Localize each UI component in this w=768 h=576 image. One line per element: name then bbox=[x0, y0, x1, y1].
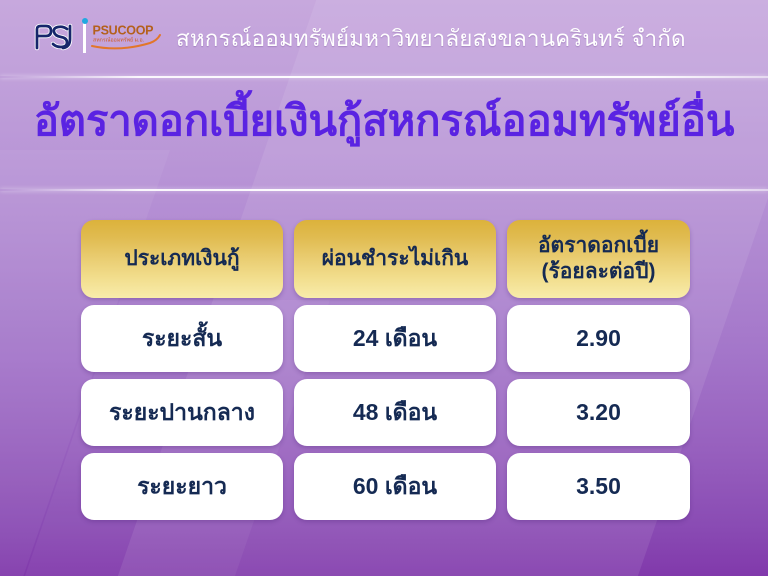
cell-loan-type: ระยะยาว bbox=[81, 453, 283, 520]
header-bar: PSUCOOP สหกรณ์ออมทรัพย์ ม.อ. สหกรณ์ออมทร… bbox=[0, 0, 768, 76]
divider-bottom bbox=[0, 187, 768, 193]
cell-rate: 2.90 bbox=[507, 305, 690, 372]
column-header-loan-type: ประเภทเงินกู้ bbox=[81, 220, 283, 298]
column-header-interest-rate-line2: (ร้อยละต่อปี) bbox=[542, 259, 656, 285]
cell-term: 24 เดือน bbox=[294, 305, 496, 372]
column-header-interest-rate-line1: อัตราดอกเบี้ย bbox=[538, 233, 659, 259]
table-row: ระยะสั้น 24 เดือน 2.90 bbox=[81, 305, 690, 372]
organization-name: สหกรณ์ออมทรัพย์มหาวิทยาลัยสงขลานครินทร์ … bbox=[176, 20, 686, 56]
cell-rate: 3.50 bbox=[507, 453, 690, 520]
cell-term: 48 เดือน bbox=[294, 379, 496, 446]
table-header-row: ประเภทเงินกู้ ผ่อนชำระไม่เกิน อัตราดอกเบ… bbox=[81, 220, 690, 298]
svg-text:PSUCOOP: PSUCOOP bbox=[93, 24, 154, 38]
slide-canvas: PSUCOOP สหกรณ์ออมทรัพย์ ม.อ. สหกรณ์ออมทร… bbox=[0, 0, 768, 576]
cell-loan-type: ระยะสั้น bbox=[81, 305, 283, 372]
table-row: ระยะยาว 60 เดือน 3.50 bbox=[81, 453, 690, 520]
column-header-interest-rate: อัตราดอกเบี้ย (ร้อยละต่อปี) bbox=[507, 220, 690, 298]
table-row: ระยะปานกลาง 48 เดือน 3.20 bbox=[81, 379, 690, 446]
column-header-term: ผ่อนชำระไม่เกิน bbox=[294, 220, 496, 298]
page-title: อัตราดอกเบี้ยเงินกู้สหกรณ์ออมทรัพย์อื่น bbox=[0, 96, 768, 146]
interest-rate-table: ประเภทเงินกู้ ผ่อนชำระไม่เกิน อัตราดอกเบ… bbox=[81, 220, 690, 520]
psucoop-logo: PSUCOOP สหกรณ์ออมทรัพย์ ม.อ. bbox=[32, 18, 163, 58]
svg-text:สหกรณ์ออมทรัพย์ ม.อ.: สหกรณ์ออมทรัพย์ ม.อ. bbox=[93, 37, 144, 44]
cell-loan-type: ระยะปานกลาง bbox=[81, 379, 283, 446]
cell-rate: 3.20 bbox=[507, 379, 690, 446]
logo-divider-bar bbox=[83, 23, 86, 53]
psu-mark-icon bbox=[32, 21, 80, 55]
cell-term: 60 เดือน bbox=[294, 453, 496, 520]
psucoop-wordmark-icon: PSUCOOP สหกรณ์ออมทรัพย์ ม.อ. bbox=[91, 21, 163, 55]
